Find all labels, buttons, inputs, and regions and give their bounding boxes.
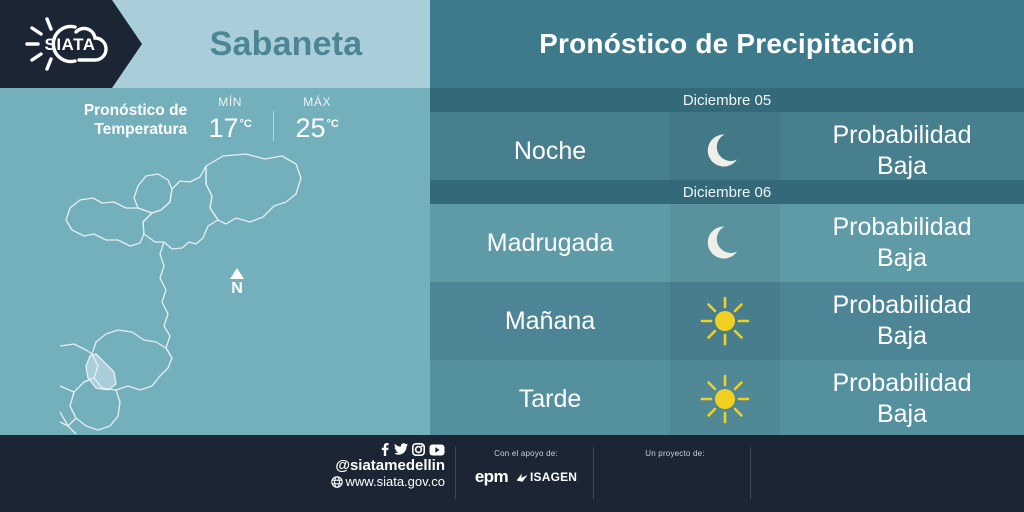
isagen-mark-icon [516, 472, 528, 483]
precipitation-panel: Pronóstico de Precipitación Diciembre 05… [430, 0, 1024, 435]
weather-icon-cell [670, 204, 780, 282]
support-block: Con el apoyo de: epm ISAGEN [462, 449, 590, 487]
support-logo-row: epm ISAGEN [462, 467, 590, 487]
north-label: N [231, 280, 243, 297]
forecast-row: Noche ProbabilidadBaja [430, 112, 1024, 190]
social-icon-row [379, 443, 445, 456]
probability-label: ProbabilidadBaja [780, 360, 1024, 438]
date-band-dec-05: Diciembre 05 [430, 88, 1024, 112]
svg-text:SIATA: SIATA [45, 35, 96, 54]
min-value: 17°C [208, 109, 251, 143]
page-title: Sabaneta [142, 0, 430, 88]
probability-line2: Baja [877, 322, 927, 350]
north-arrow: N [222, 268, 252, 308]
probability-line1: Probabilidad [833, 121, 972, 149]
sun-cloud-icon: SIATA [23, 13, 119, 75]
date-band-dec-06: Diciembre 06 [430, 180, 1024, 204]
probability-label: ProbabilidadBaja [780, 204, 1024, 282]
probability-line2: Baja [877, 244, 927, 272]
probability-line1: Probabilidad [833, 291, 972, 319]
footer-divider [750, 447, 751, 499]
weather-infographic: SIATA Sabaneta Pronóstico de Temperatura… [0, 0, 1024, 512]
moon-icon [699, 217, 751, 269]
weather-icon-cell [670, 112, 780, 190]
probability-label: ProbabilidadBaja [780, 282, 1024, 360]
project-caption: Un proyecto de: [600, 449, 750, 458]
footer-divider [455, 447, 456, 499]
period-label: Madrugada [430, 204, 670, 282]
max-unit: °C [327, 118, 339, 130]
temperature-title-line1: Pronóstico de [84, 101, 187, 120]
epm-logo: epm [475, 467, 508, 487]
probability-line1: Probabilidad [833, 369, 972, 397]
globe-icon [331, 476, 343, 488]
min-unit: °C [240, 118, 252, 130]
probability-line2: Baja [877, 152, 927, 180]
probability-line2: Baja [877, 400, 927, 428]
project-block: Un proyecto de: [600, 449, 750, 458]
siata-logo: SIATA [0, 0, 142, 88]
max-temperature: MÁX 25°C [288, 95, 346, 143]
probability-label: ProbabilidadBaja [780, 112, 1024, 190]
temperature-title-line2: Temperatura [84, 120, 187, 139]
social-handle[interactable]: @siatamedellin [335, 457, 445, 474]
moon-icon [699, 125, 751, 177]
temperature-title: Pronóstico de Temperatura [84, 95, 187, 139]
municipality-outline-map [60, 150, 380, 435]
left-panel: SIATA Sabaneta Pronóstico de Temperatura… [0, 0, 430, 435]
twitter-icon[interactable] [394, 443, 408, 456]
sun-icon [699, 295, 751, 347]
min-temperature: MÍN 17°C [201, 95, 259, 143]
max-label: MÁX [303, 95, 331, 109]
period-label: Noche [430, 112, 670, 190]
forecast-row: Mañana Probabili [430, 282, 1024, 360]
website-label: www.siata.gov.co [346, 474, 445, 489]
temperature-summary: Pronóstico de Temperatura MÍN 17°C MÁX 2… [0, 95, 430, 157]
valley-map: N [0, 150, 430, 435]
website-row[interactable]: www.siata.gov.co [331, 474, 445, 489]
probability-line1: Probabilidad [833, 213, 972, 241]
weather-icon-cell [670, 360, 780, 438]
period-label: Tarde [430, 360, 670, 438]
instagram-icon[interactable] [412, 443, 425, 456]
precipitation-title: Pronóstico de Precipitación [430, 0, 1024, 88]
footer-divider [593, 447, 594, 499]
forecast-row: Madrugada ProbabilidadBaja [430, 204, 1024, 282]
isagen-logo: ISAGEN [516, 470, 577, 484]
temperature-divider [273, 111, 274, 141]
north-arrow-head [230, 268, 244, 279]
max-value: 25°C [295, 109, 338, 143]
sun-icon [699, 373, 751, 425]
isagen-label: ISAGEN [530, 470, 577, 484]
min-label: MÍN [218, 95, 242, 109]
social-block: @siatamedellin www.siata.gov.co [310, 443, 445, 489]
facebook-icon[interactable] [379, 443, 390, 456]
forecast-row: Tarde Probabilid [430, 360, 1024, 438]
youtube-icon[interactable] [429, 444, 445, 456]
support-caption: Con el apoyo de: [462, 449, 590, 458]
footer: @siatamedellin www.siata.gov.co Con el a… [0, 435, 1024, 512]
weather-icon-cell [670, 282, 780, 360]
period-label: Mañana [430, 282, 670, 360]
